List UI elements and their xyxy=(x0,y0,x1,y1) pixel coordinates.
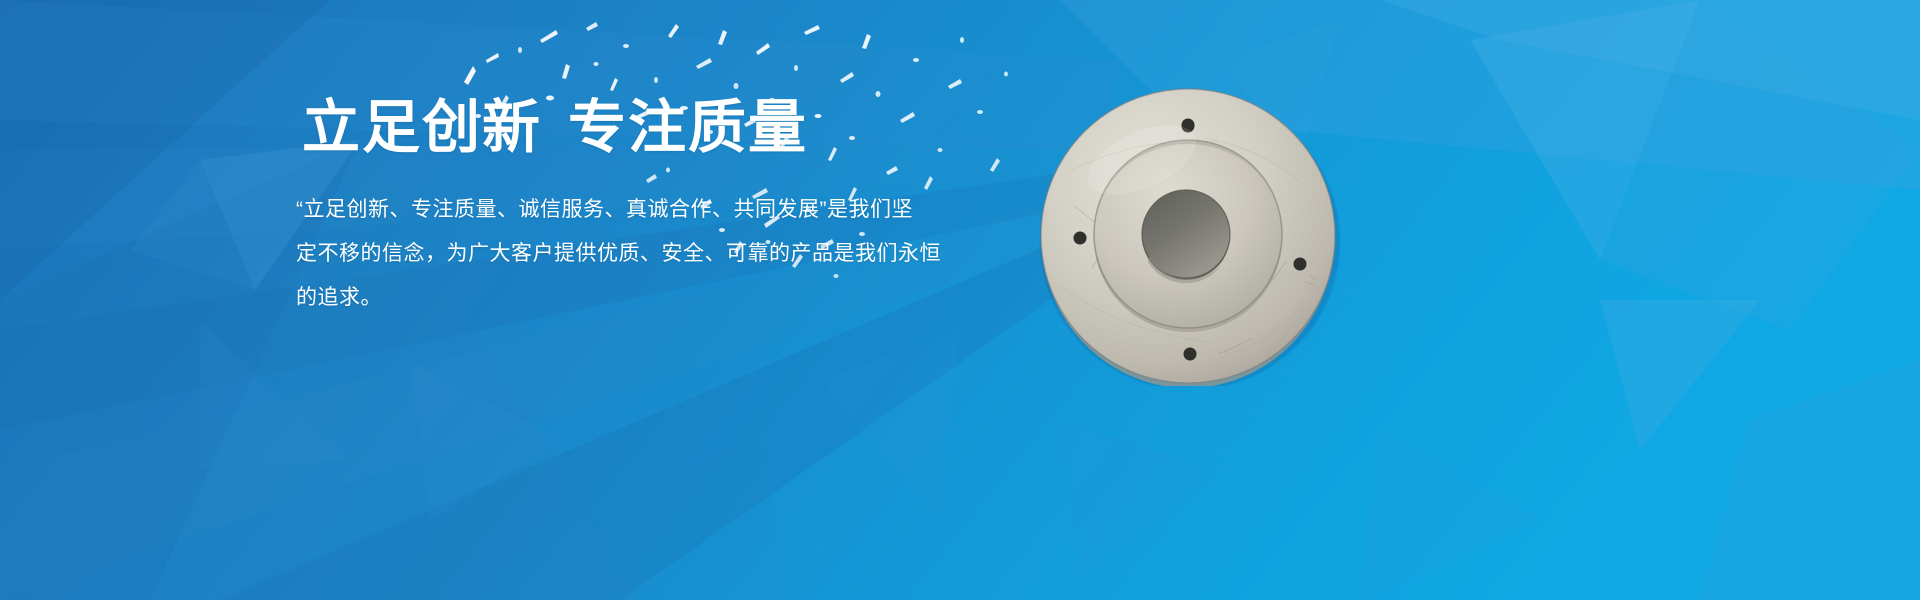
product-image xyxy=(1038,86,1342,386)
page-title: 立足创新专注质量 xyxy=(302,96,996,160)
description-line: 的追求。 xyxy=(296,276,956,320)
description-line: 定不移的信念，为广大客户提供优质、安全、可靠的产品是我们永恒 xyxy=(296,232,956,276)
metal-flange-illustration xyxy=(1038,86,1342,386)
description-line: “立足创新、专注质量、诚信服务、真诚合作、共同发展”是我们坚 xyxy=(296,188,956,232)
hero-banner: 立足创新专注质量 “立足创新、专注质量、诚信服务、真诚合作、共同发展”是我们坚 … xyxy=(0,0,1920,600)
banner-copy: 立足创新专注质量 “立足创新、专注质量、诚信服务、真诚合作、共同发展”是我们坚 … xyxy=(296,96,996,320)
banner-description: “立足创新、专注质量、诚信服务、真诚合作、共同发展”是我们坚 定不移的信念，为广… xyxy=(296,188,956,320)
headline-part-1: 立足创新 xyxy=(302,95,542,160)
headline-part-2: 专注质量 xyxy=(568,95,808,160)
